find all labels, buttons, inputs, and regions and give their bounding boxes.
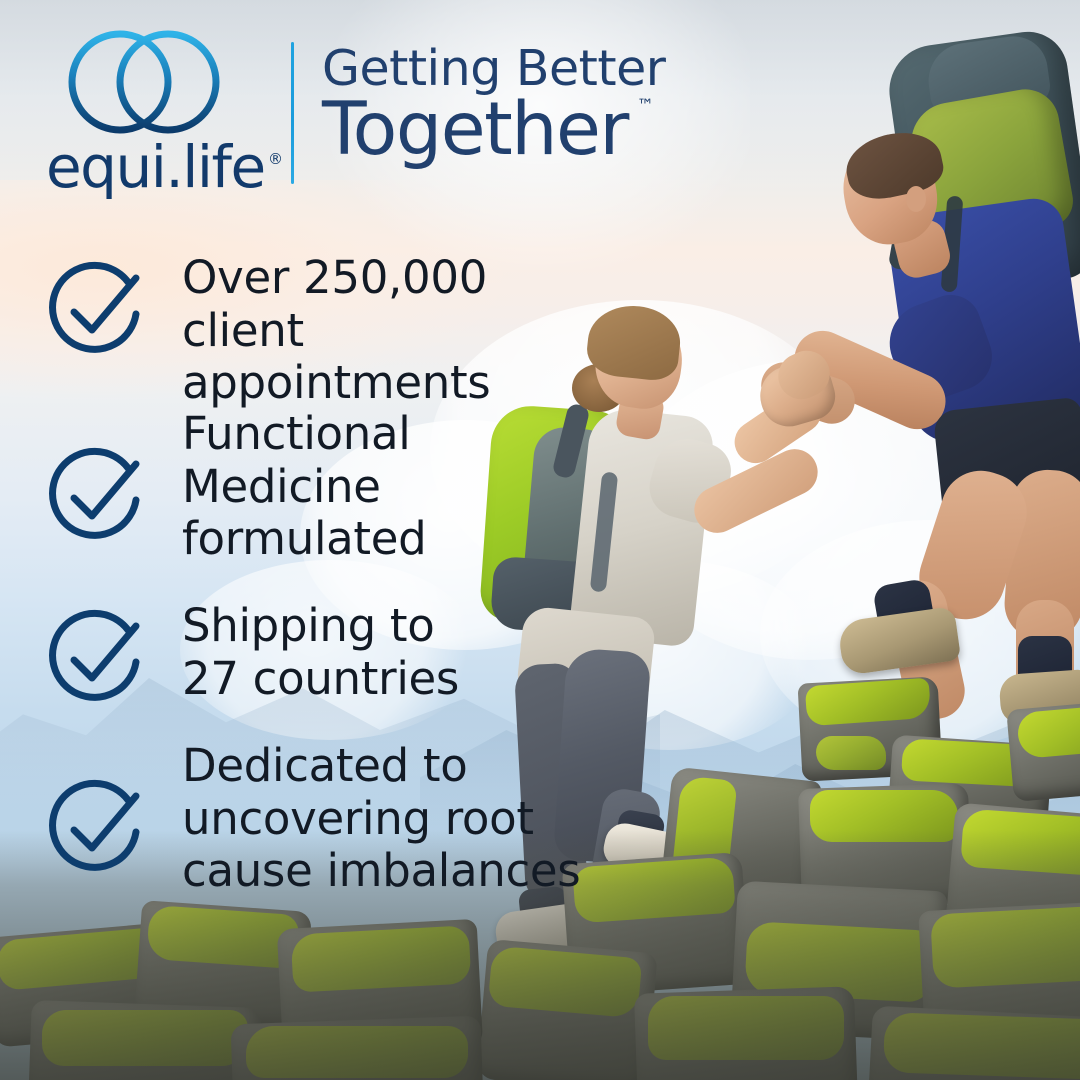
two-overlapping-circles-icon	[64, 26, 224, 138]
vertical-divider	[291, 42, 294, 184]
registered-trademark-mark: ®	[268, 150, 283, 168]
benefit-text-line: formulated	[182, 513, 426, 566]
check-circle-icon	[40, 774, 152, 886]
benefit-item: Dedicated to uncovering root cause imbal…	[40, 740, 580, 898]
trademark-mark: ™	[637, 98, 654, 116]
benefit-item: Functional Medicine formulated	[40, 408, 426, 566]
check-circle-icon	[40, 256, 152, 368]
benefit-text-line: cause imbalances	[182, 845, 580, 898]
male-ear	[906, 186, 926, 212]
tagline-line-2: Together ™	[322, 92, 628, 169]
benefit-item: Over 250,000 client appointments	[40, 252, 600, 410]
benefit-text-line: appointments	[182, 357, 600, 410]
benefit-text-line: uncovering root	[182, 793, 580, 846]
tagline: Getting Better Together ™	[322, 44, 742, 169]
check-circle-icon	[40, 442, 152, 554]
benefit-text: Shipping to 27 countries	[152, 600, 459, 705]
benefit-text-line: Medicine	[182, 461, 426, 514]
check-circle-icon	[40, 604, 152, 716]
benefit-text: Over 250,000 client appointments	[152, 252, 600, 410]
lichen-patch	[816, 736, 886, 770]
benefit-item: Shipping to 27 countries	[40, 600, 459, 716]
benefit-text-line: Functional	[182, 408, 426, 461]
benefit-text-line: Dedicated to	[182, 740, 580, 793]
benefit-text-line: 27 countries	[182, 653, 459, 706]
benefit-text-line: Over 250,000 client	[182, 252, 600, 357]
benefit-text: Dedicated to uncovering root cause imbal…	[152, 740, 580, 898]
marketing-graphic: equi.life ® Getting Better Together ™ Ov…	[0, 0, 1080, 1080]
logo-wordmark: equi.life	[46, 138, 265, 196]
tagline-line-2-text: Together	[322, 87, 628, 172]
benefit-text: Functional Medicine formulated	[152, 408, 426, 566]
benefit-text-line: Shipping to	[182, 600, 459, 653]
brand-logo[interactable]: equi.life ®	[46, 26, 286, 196]
